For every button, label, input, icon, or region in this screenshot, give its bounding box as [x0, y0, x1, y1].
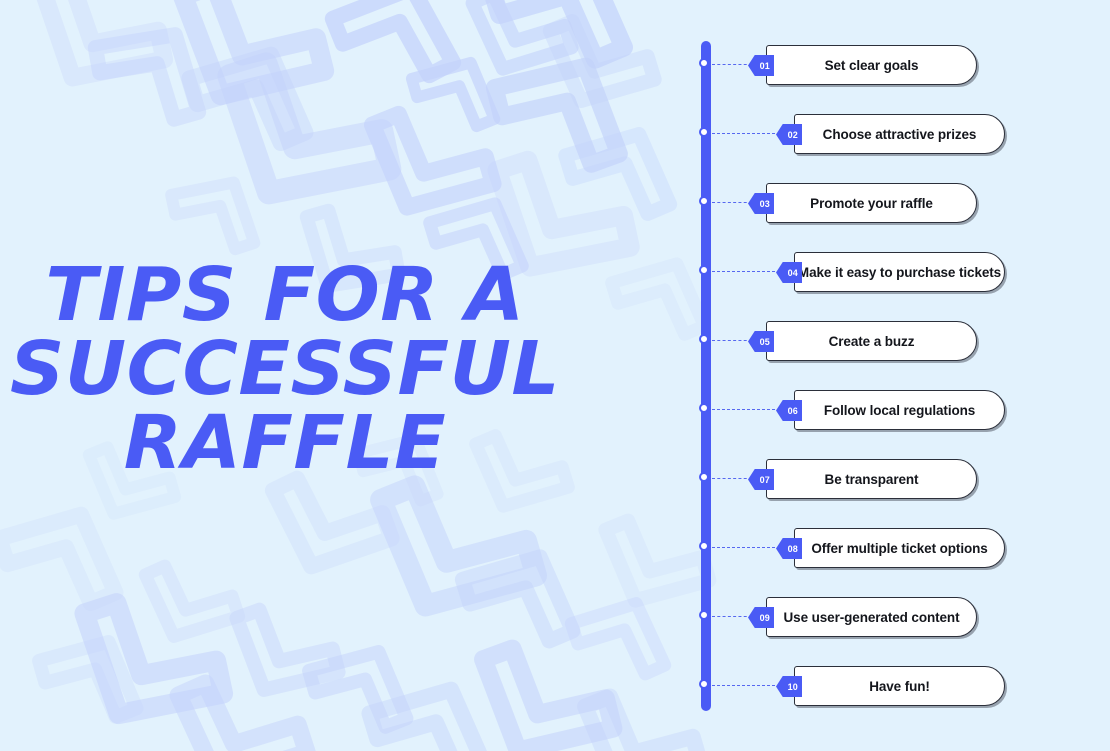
- infographic-canvas: TIPS FOR A SUCCESSFUL RAFFLE Set clear g…: [0, 0, 1110, 751]
- timeline-step-badge: 04: [776, 262, 802, 283]
- timeline-node-dot: [699, 127, 709, 137]
- timeline-connector-line: [712, 202, 752, 203]
- timeline-step-badge: 02: [776, 124, 802, 145]
- timeline-card[interactable]: Create a buzz: [766, 321, 977, 361]
- timeline-card[interactable]: Be transparent: [766, 459, 977, 499]
- timeline-card-label: Offer multiple ticket options: [811, 541, 987, 556]
- timeline-card-label: Make it easy to purchase tickets: [798, 265, 1001, 280]
- timeline-connector-line: [712, 340, 752, 341]
- timeline-item: Promote your raffle03: [660, 183, 1110, 223]
- timeline-card-label: Be transparent: [825, 472, 919, 487]
- timeline-card[interactable]: Have fun!: [794, 666, 1005, 706]
- timeline-step-badge: 10: [776, 676, 802, 697]
- timeline-connector-line: [712, 409, 780, 410]
- timeline-card[interactable]: Set clear goals: [766, 45, 977, 85]
- page-title: TIPS FOR A SUCCESSFUL RAFFLE: [0, 258, 576, 480]
- timeline-node-dot: [699, 679, 709, 689]
- timeline: Set clear goals01Choose attractive prize…: [660, 0, 1110, 751]
- timeline-connector-line: [712, 685, 780, 686]
- timeline-card-label: Set clear goals: [825, 58, 919, 73]
- timeline-connector-line: [712, 271, 780, 272]
- timeline-card-label: Follow local regulations: [824, 403, 975, 418]
- timeline-card-label: Have fun!: [869, 679, 930, 694]
- timeline-item: Set clear goals01: [660, 45, 1110, 85]
- title-line-1: TIPS FOR A: [0, 258, 576, 332]
- timeline-item: Be transparent07: [660, 459, 1110, 499]
- timeline-step-badge: 09: [748, 607, 774, 628]
- timeline-step-badge: 07: [748, 469, 774, 490]
- timeline-node-dot: [699, 541, 709, 551]
- timeline-item: Follow local regulations06: [660, 390, 1110, 430]
- timeline-item: Choose attractive prizes02: [660, 114, 1110, 154]
- timeline-step-badge: 05: [748, 331, 774, 352]
- timeline-node-dot: [699, 403, 709, 413]
- timeline-card-label: Use user-generated content: [784, 610, 960, 625]
- timeline-card[interactable]: Use user-generated content: [766, 597, 977, 637]
- timeline-node-dot: [699, 58, 709, 68]
- title-line-2: SUCCESSFUL: [0, 332, 576, 406]
- timeline-card[interactable]: Follow local regulations: [794, 390, 1005, 430]
- timeline-card-label: Promote your raffle: [810, 196, 933, 211]
- timeline-connector-line: [712, 547, 780, 548]
- timeline-card[interactable]: Make it easy to purchase tickets: [794, 252, 1005, 292]
- timeline-connector-line: [712, 478, 752, 479]
- timeline-node-dot: [699, 472, 709, 482]
- timeline-node-dot: [699, 265, 709, 275]
- timeline-step-badge: 06: [776, 400, 802, 421]
- timeline-item: Create a buzz05: [660, 321, 1110, 361]
- timeline-card[interactable]: Offer multiple ticket options: [794, 528, 1005, 568]
- timeline-item: Make it easy to purchase tickets04: [660, 252, 1110, 292]
- timeline-card[interactable]: Promote your raffle: [766, 183, 977, 223]
- timeline-node-dot: [699, 196, 709, 206]
- timeline-item: Offer multiple ticket options08: [660, 528, 1110, 568]
- timeline-card-label: Create a buzz: [829, 334, 915, 349]
- timeline-card-label: Choose attractive prizes: [823, 127, 977, 142]
- timeline-connector-line: [712, 616, 752, 617]
- timeline-node-dot: [699, 334, 709, 344]
- timeline-item: Use user-generated content09: [660, 597, 1110, 637]
- timeline-connector-line: [712, 64, 752, 65]
- timeline-card[interactable]: Choose attractive prizes: [794, 114, 1005, 154]
- timeline-step-badge: 03: [748, 193, 774, 214]
- timeline-step-badge: 08: [776, 538, 802, 559]
- title-line-3: RAFFLE: [0, 406, 576, 480]
- timeline-node-dot: [699, 610, 709, 620]
- timeline-step-badge: 01: [748, 55, 774, 76]
- timeline-item: Have fun!10: [660, 666, 1110, 706]
- timeline-connector-line: [712, 133, 780, 134]
